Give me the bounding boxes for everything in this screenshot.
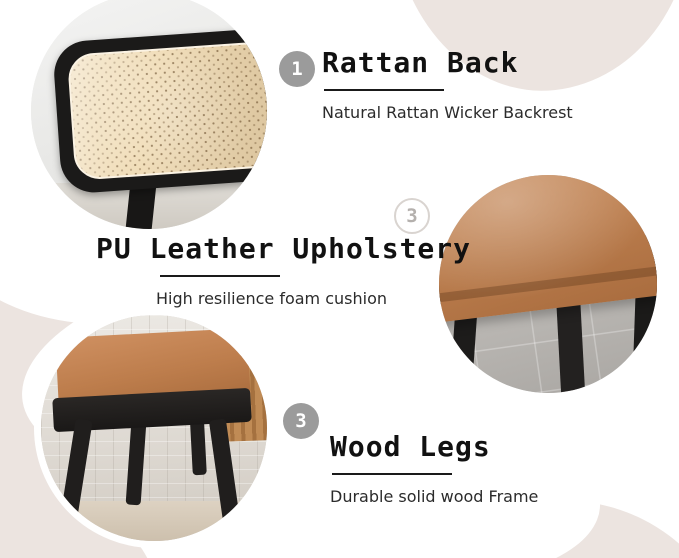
rattan-cane-panel xyxy=(67,41,274,181)
feature-badge-1: 1 xyxy=(279,51,315,87)
feature-badge-2: 3 xyxy=(394,198,430,234)
feature-badge-3: 3 xyxy=(283,403,319,439)
feature-description-3: Durable solid wood Frame xyxy=(330,487,538,506)
feature-title-3: Wood Legs xyxy=(330,432,538,463)
feature-rattan-back: 1 Rattan Back Natural Rattan Wicker Back… xyxy=(322,48,573,122)
feature-title-1: Rattan Back xyxy=(322,48,573,79)
rattan-backrest-photo xyxy=(24,0,274,236)
feature-description-2: High resilience foam cushion xyxy=(156,289,471,308)
feature-wood-legs: 3 Wood Legs Durable solid wood Frame xyxy=(330,432,538,506)
chair-back-frame xyxy=(52,27,274,194)
feature-title-2: PU Leather Upholstery xyxy=(96,234,471,265)
feature-divider-2 xyxy=(160,275,280,277)
infographic-canvas: 1 Rattan Back Natural Rattan Wicker Back… xyxy=(0,0,679,558)
feature-description-1: Natural Rattan Wicker Backrest xyxy=(322,103,573,122)
feature-divider-3 xyxy=(332,473,452,475)
wood-legs-photo xyxy=(34,308,274,548)
feature-divider-1 xyxy=(324,89,444,91)
rattan-highlight xyxy=(69,43,274,179)
feature-pu-leather-upholstery: 3 PU Leather Upholstery High resilience … xyxy=(96,234,471,308)
